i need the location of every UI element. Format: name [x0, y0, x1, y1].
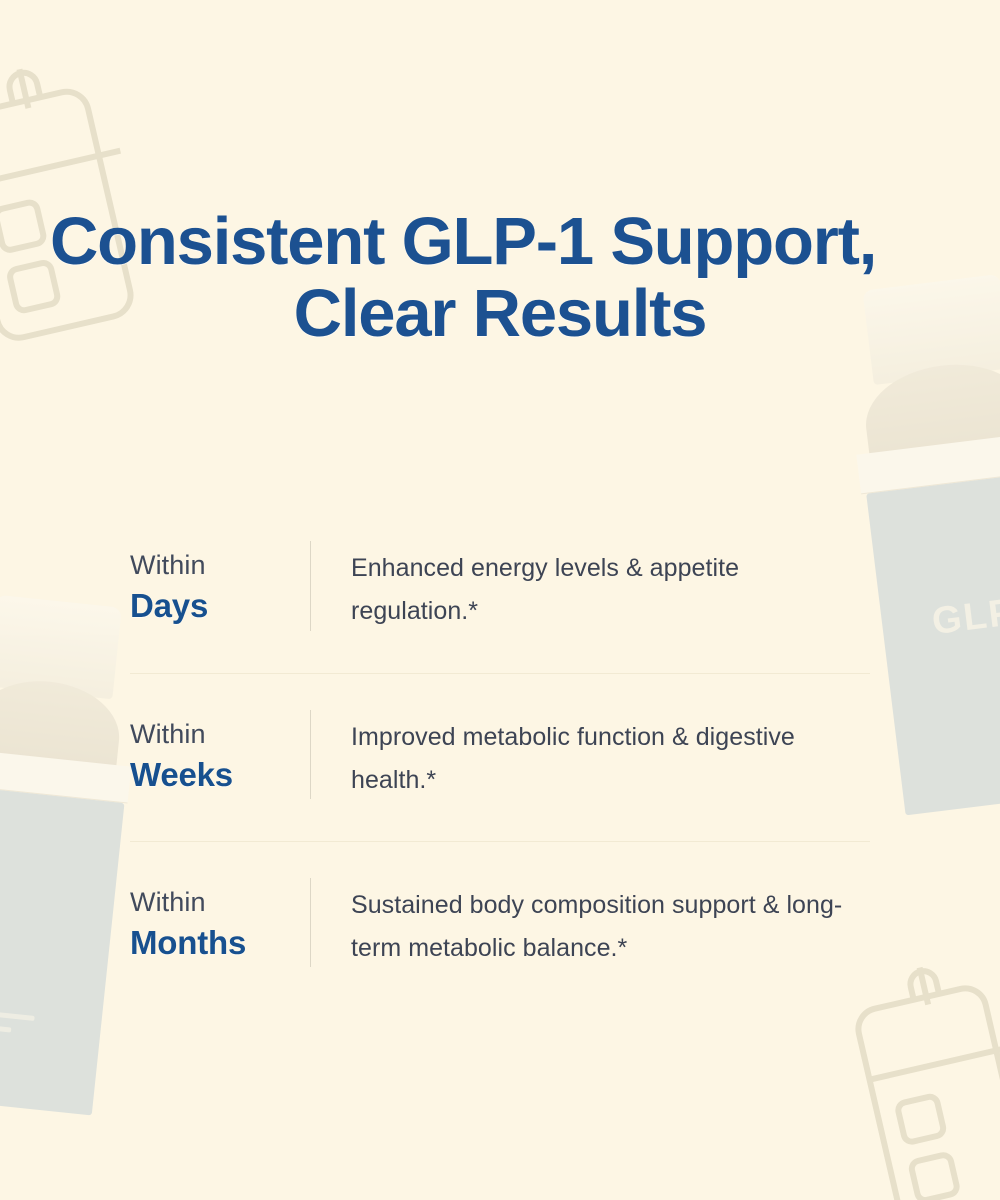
page-title: Consistent GLP-1 Support, Clear Results [50, 206, 950, 351]
timeline-when-prefix: Within [130, 884, 310, 920]
benefits-timeline: Within Days Enhanced energy levels & app… [130, 505, 870, 1009]
timeline-when-months: Within Months [130, 864, 310, 966]
timeline-row-weeks: Within Weeks Improved metabolic function… [130, 673, 870, 841]
timeline-when-days: Within Days [130, 527, 310, 629]
timeline-description: Sustained body composition support & lon… [311, 864, 870, 970]
timeline-when-unit: Days [130, 583, 310, 629]
page-title-line-1: Consistent GLP-1 Support, [50, 206, 950, 278]
timeline-when-unit: Weeks [130, 752, 310, 798]
page-content: Consistent GLP-1 Support, Clear Results … [0, 0, 1000, 1200]
timeline-description: Enhanced energy levels & appetite regula… [311, 527, 870, 633]
timeline-when-unit: Months [130, 920, 310, 966]
page-title-line-2: Clear Results [50, 278, 950, 350]
timeline-when-prefix: Within [130, 716, 310, 752]
timeline-row-months: Within Months Sustained body composition… [130, 841, 870, 1009]
timeline-when-weeks: Within Weeks [130, 696, 310, 798]
timeline-when-prefix: Within [130, 547, 310, 583]
timeline-description: Improved metabolic function & digestive … [311, 696, 870, 802]
timeline-row-days: Within Days Enhanced energy levels & app… [130, 505, 870, 673]
